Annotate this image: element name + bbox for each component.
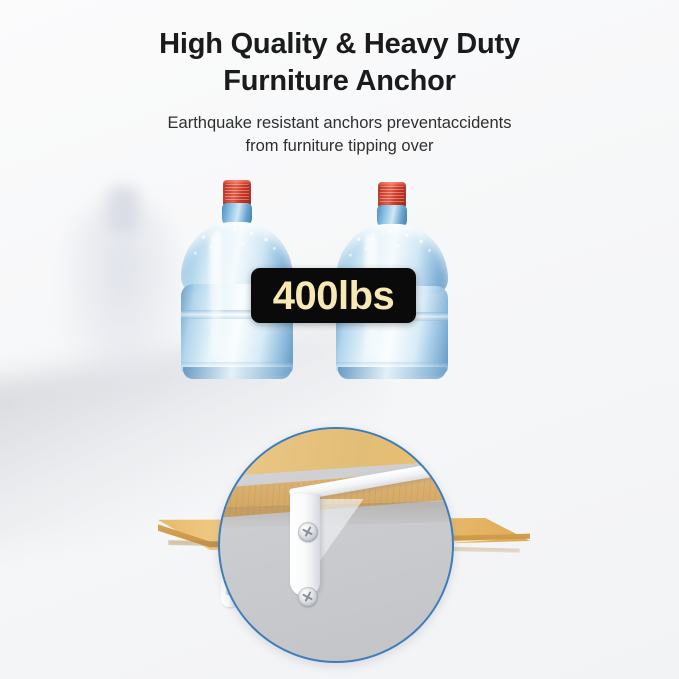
- weight-capacity-label: 400lbs: [273, 276, 395, 316]
- blurred-bottle-body: [62, 198, 182, 398]
- bottle-highlight: [210, 232, 222, 358]
- weight-capacity-badge: 400lbs: [251, 268, 416, 323]
- page-title: High Quality & Heavy Duty Furniture Anch…: [0, 26, 679, 100]
- magnifier-callout: [218, 427, 454, 663]
- headline-line-1: High Quality & Heavy Duty: [0, 26, 679, 63]
- subtitle-line-2: from furniture tipping over: [0, 135, 679, 158]
- bottle-base: [338, 367, 446, 379]
- magnified-bracket-screw: [298, 587, 318, 607]
- magnified-bracket-vertical-arm: [290, 494, 320, 596]
- product-infographic: High Quality & Heavy Duty Furniture Anch…: [0, 0, 679, 679]
- headline-line-2: Furniture Anchor: [0, 63, 679, 100]
- magnified-bracket-screw: [298, 522, 318, 542]
- page-subtitle: Earthquake resistant anchors preventacci…: [0, 112, 679, 159]
- subtitle-line-1: Earthquake resistant anchors preventacci…: [0, 112, 679, 135]
- bottle-base: [183, 367, 291, 379]
- magnifier-circle: [218, 427, 454, 663]
